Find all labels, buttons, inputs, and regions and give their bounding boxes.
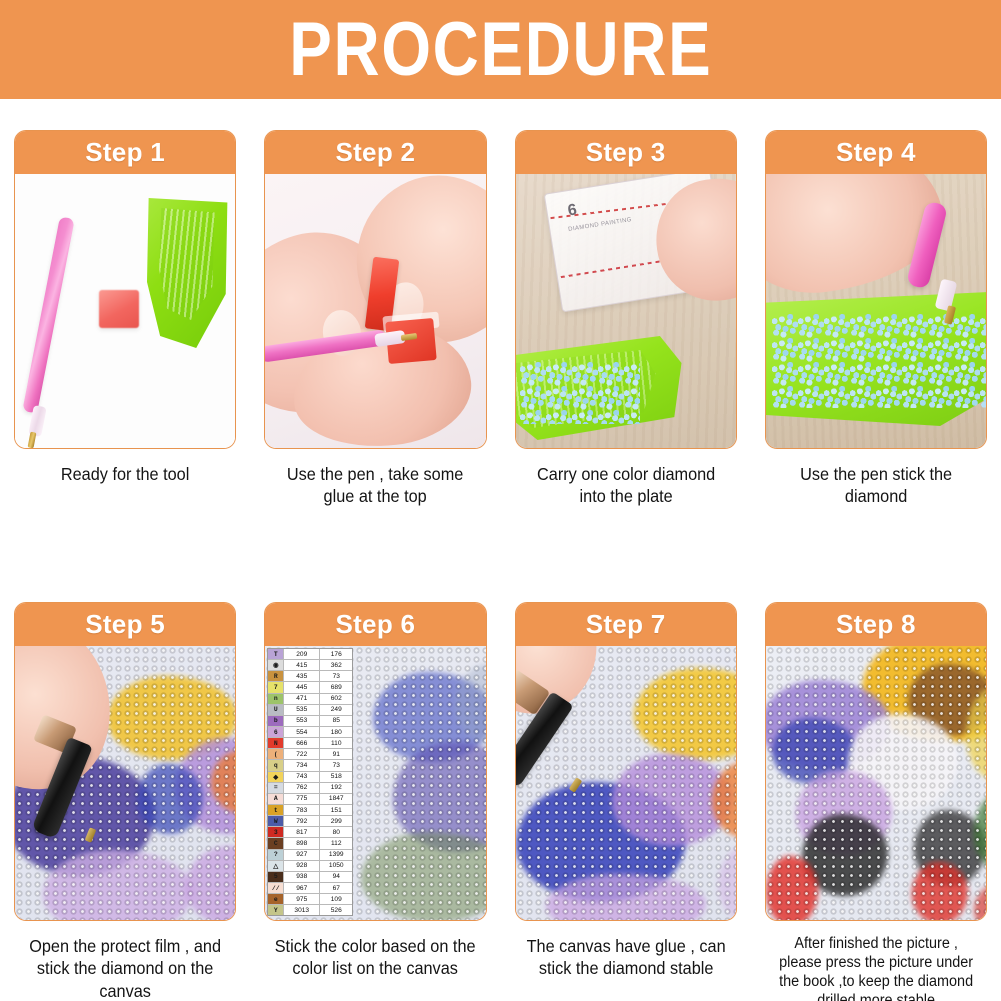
legend-row: ◆743518 (268, 772, 352, 783)
step-image-4 (766, 174, 986, 448)
step-badge-1: Step 1 (15, 131, 235, 174)
legend-count: 112 (320, 838, 352, 848)
page-title: PROCEDURE (289, 12, 712, 88)
step-caption-3: Carry one color diamond into the plate (522, 463, 729, 508)
legend-color-code: 734 (284, 760, 320, 770)
step-badge-label-1: Step 1 (85, 137, 165, 168)
legend-count: 1050 (320, 861, 352, 871)
legend-count: 526 (320, 905, 352, 915)
step-caption-4: Use the pen stick the diamond (773, 463, 980, 508)
legend-row: W792299 (268, 816, 352, 827)
page-header-banner: PROCEDURE (0, 0, 1001, 99)
legend-color-code: 3013 (284, 905, 320, 915)
legend-symbol-swatch: W (268, 816, 284, 826)
legend-count: 67 (320, 883, 352, 893)
legend-color-code: 938 (284, 872, 320, 882)
legend-count: 80 (320, 827, 352, 837)
step-image-6: T209176◉415362R435737445689n471602U53524… (265, 646, 485, 920)
legend-symbol-swatch: A (268, 794, 284, 804)
legend-symbol-swatch: b (268, 716, 284, 726)
scene-pick-diamond (766, 174, 986, 448)
legend-count: 176 (320, 649, 352, 659)
legend-row: =762192 (268, 783, 352, 794)
step-badge-8: Step 8 (766, 603, 986, 646)
legend-symbol-swatch: ( (268, 749, 284, 759)
step-badge-2: Step 2 (265, 131, 485, 174)
legend-symbol-swatch: e (268, 894, 284, 904)
legend-row: t783151 (268, 805, 352, 816)
legend-count: 299 (320, 816, 352, 826)
legend-row: ◉415362 (268, 660, 352, 671)
step-card-2: Step 2 (264, 130, 486, 449)
step-badge-4: Step 4 (766, 131, 986, 174)
step-image-1 (15, 174, 235, 448)
legend-count: 518 (320, 772, 352, 782)
legend-symbol-swatch: 5 (268, 872, 284, 882)
step-card-1: Step 1 (14, 130, 236, 449)
legend-symbol-swatch: R (268, 671, 284, 681)
step-card-4: Step 4 (765, 130, 987, 449)
legend-color-code: 554 (284, 727, 320, 737)
scene-hands-with-glue (265, 174, 485, 448)
glue-square-icon (99, 290, 139, 328)
legend-count: 602 (320, 694, 352, 704)
legend-row: T209176 (268, 649, 352, 660)
legend-symbol-swatch: C (268, 838, 284, 848)
step-badge-label-8: Step 8 (836, 609, 916, 640)
step-cell-5: Step 5 (0, 602, 250, 1001)
step-badge-label-5: Step 5 (85, 609, 165, 640)
steps-row-top: Step 1 Ready for the tool (0, 130, 1001, 508)
step-card-7: Step 7 (515, 602, 737, 921)
step-image-2 (265, 174, 485, 448)
step-card-3: Step 3 6 DIAMOND PAINTING (515, 130, 737, 449)
step-caption-2: Use the pen , take some glue at the top (272, 463, 479, 508)
legend-row: b55385 (268, 716, 352, 727)
legend-row: //96767 (268, 883, 352, 894)
legend-symbol-swatch: N (268, 738, 284, 748)
legend-symbol-swatch: t (268, 805, 284, 815)
legend-row: △9281050 (268, 861, 352, 872)
legend-count: 362 (320, 660, 352, 670)
legend-color-code: 967 (284, 883, 320, 893)
step-badge-label-4: Step 4 (836, 137, 916, 168)
legend-count: 151 (320, 805, 352, 815)
scene-pour-diamonds: 6 DIAMOND PAINTING (516, 174, 736, 448)
step-image-5 (15, 646, 235, 920)
step-cell-2: Step 2 (250, 130, 500, 508)
legend-color-code: 666 (284, 738, 320, 748)
step-caption-5: Open the protect film , and stick the di… (22, 935, 229, 1001)
legend-count: 1847 (320, 794, 352, 804)
legend-row: A7751847 (268, 794, 352, 805)
legend-count: 1399 (320, 850, 352, 860)
legend-count: 85 (320, 716, 352, 726)
scene-finished-painting (766, 646, 986, 920)
legend-symbol-swatch: q (268, 760, 284, 770)
legend-color-code: 817 (284, 827, 320, 837)
legend-symbol-swatch: 3 (268, 827, 284, 837)
step-caption-7: The canvas have glue , can stick the dia… (522, 935, 729, 980)
step-card-8: Step 8 (765, 602, 987, 921)
legend-color-code: 445 (284, 682, 320, 692)
legend-row: Y3013526 (268, 905, 352, 916)
scene-tools-on-white (15, 174, 235, 448)
scene-press-diamond (516, 646, 736, 920)
step-image-7 (516, 646, 736, 920)
legend-row: N666110 (268, 738, 352, 749)
legend-symbol-swatch: 7 (268, 682, 284, 692)
legend-symbol-swatch: U (268, 705, 284, 715)
legend-row: C898112 (268, 838, 352, 849)
legend-symbol-swatch: ◉ (268, 660, 284, 670)
step-caption-8: After finished the picture , please pres… (773, 935, 980, 1001)
legend-row: 381780 (268, 827, 352, 838)
legend-color-code: 209 (284, 649, 320, 659)
blue-diamonds-icon (520, 362, 640, 424)
step-badge-5: Step 5 (15, 603, 235, 646)
step-badge-label-2: Step 2 (335, 137, 415, 168)
color-legend-table: T209176◉415362R435737445689n471602U53524… (267, 648, 353, 916)
step-badge-label-7: Step 7 (586, 609, 666, 640)
legend-symbol-swatch: n (268, 694, 284, 704)
bead-grid-texture (766, 646, 986, 920)
step-cell-4: Step 4 Use the pen stick the diamond (751, 130, 1001, 508)
legend-symbol-swatch: △ (268, 861, 284, 871)
step-badge-label-3: Step 3 (586, 137, 666, 168)
legend-count: 689 (320, 682, 352, 692)
step-image-8 (766, 646, 986, 920)
legend-row: 6554180 (268, 727, 352, 738)
scene-color-list: T209176◉415362R435737445689n471602U53524… (265, 646, 485, 920)
legend-count: 91 (320, 749, 352, 759)
pink-pen-icon (22, 216, 75, 413)
legend-color-code: 743 (284, 772, 320, 782)
steps-row-bottom: Step 5 (0, 602, 1001, 1001)
step-image-3: 6 DIAMOND PAINTING (516, 174, 736, 448)
step-cell-1: Step 1 Ready for the tool (0, 130, 250, 508)
step-badge-3: Step 3 (516, 131, 736, 174)
step-badge-6: Step 6 (265, 603, 485, 646)
legend-row: 593894 (268, 872, 352, 883)
legend-row: R43573 (268, 671, 352, 682)
step-cell-3: Step 3 6 DIAMOND PAINTING (501, 130, 751, 508)
legend-count: 73 (320, 671, 352, 681)
legend-color-code: 975 (284, 894, 320, 904)
step-card-6: Step 6 T209176◉415362R435737445689n47160… (264, 602, 486, 921)
legend-count: 73 (320, 760, 352, 770)
legend-color-code: 471 (284, 694, 320, 704)
legend-row: 7445689 (268, 682, 352, 693)
step-badge-7: Step 7 (516, 603, 736, 646)
legend-symbol-swatch: ? (268, 850, 284, 860)
step-card-5: Step 5 (14, 602, 236, 921)
legend-row: n471602 (268, 694, 352, 705)
legend-row: U535249 (268, 705, 352, 716)
legend-symbol-swatch: 6 (268, 727, 284, 737)
legend-color-code: 792 (284, 816, 320, 826)
legend-color-code: 415 (284, 660, 320, 670)
scene-pen-on-canvas (15, 646, 235, 920)
legend-row: e975109 (268, 894, 352, 905)
legend-count: 110 (320, 738, 352, 748)
step-badge-label-6: Step 6 (335, 609, 415, 640)
legend-color-code: 775 (284, 794, 320, 804)
procedure-infographic: PROCEDURE Step 1 (0, 0, 1001, 1001)
legend-color-code: 783 (284, 805, 320, 815)
legend-symbol-swatch: ◆ (268, 772, 284, 782)
legend-symbol-swatch: // (268, 883, 284, 893)
legend-count: 109 (320, 894, 352, 904)
legend-symbol-swatch: T (268, 649, 284, 659)
legend-color-code: 762 (284, 783, 320, 793)
legend-symbol-swatch: = (268, 783, 284, 793)
legend-count: 192 (320, 783, 352, 793)
legend-row: (72291 (268, 749, 352, 760)
legend-count: 249 (320, 705, 352, 715)
legend-color-code: 927 (284, 850, 320, 860)
blue-diamonds-icon (772, 314, 986, 408)
legend-symbol-swatch: Y (268, 905, 284, 915)
step-caption-1: Ready for the tool (22, 463, 229, 485)
step-cell-8: Step 8 (751, 602, 1001, 1001)
step-cell-6: Step 6 T209176◉415362R435737445689n47160… (250, 602, 500, 1001)
legend-color-code: 722 (284, 749, 320, 759)
legend-row: ?9271399 (268, 850, 352, 861)
legend-color-code: 928 (284, 861, 320, 871)
legend-color-code: 435 (284, 671, 320, 681)
step-caption-6: Stick the color based on the color list … (272, 935, 479, 980)
legend-row: q73473 (268, 760, 352, 771)
legend-color-code: 535 (284, 705, 320, 715)
legend-count: 94 (320, 872, 352, 882)
step-cell-7: Step 7 (501, 602, 751, 1001)
legend-color-code: 898 (284, 838, 320, 848)
legend-color-code: 553 (284, 716, 320, 726)
legend-count: 180 (320, 727, 352, 737)
